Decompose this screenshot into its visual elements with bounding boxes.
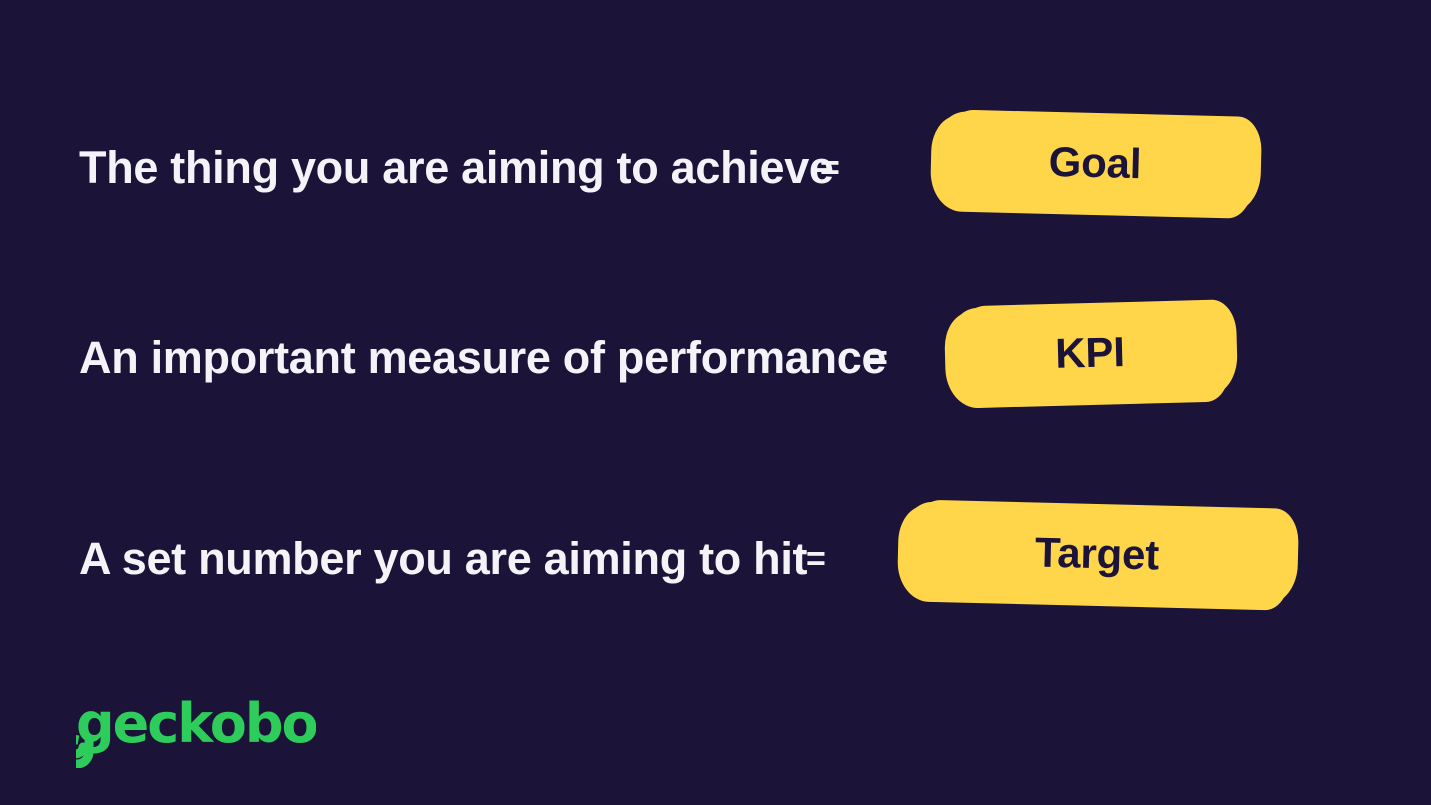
highlight-term-label: Goal xyxy=(933,111,1257,215)
highlight-box-target: Target xyxy=(900,501,1294,607)
equals-sign: = xyxy=(806,494,826,624)
definition-row-target: A set number you are aiming to hit = Tar… xyxy=(0,494,1431,624)
highlight-box-kpi: KPI xyxy=(947,301,1233,404)
equals-sign: = xyxy=(868,293,888,423)
slide-canvas: The thing you are aiming to achieve = Go… xyxy=(0,0,1431,805)
definition-row-goal: The thing you are aiming to achieve = Go… xyxy=(0,103,1431,233)
geckoboard-wordmark-text: geckoboard xyxy=(76,696,316,755)
definition-row-kpi: An important measure of performance = KP… xyxy=(0,293,1431,423)
definition-phrase: A set number you are aiming to hit xyxy=(79,494,807,624)
equals-sign: = xyxy=(820,103,840,233)
geckoboard-logo: geckoboard xyxy=(76,696,316,768)
highlight-box-goal: Goal xyxy=(933,111,1257,215)
definition-phrase: An important measure of performance xyxy=(79,293,886,423)
highlight-term-label: KPI xyxy=(947,301,1233,404)
definition-phrase: The thing you are aiming to achieve xyxy=(79,103,834,233)
highlight-term-label: Target xyxy=(900,501,1294,607)
